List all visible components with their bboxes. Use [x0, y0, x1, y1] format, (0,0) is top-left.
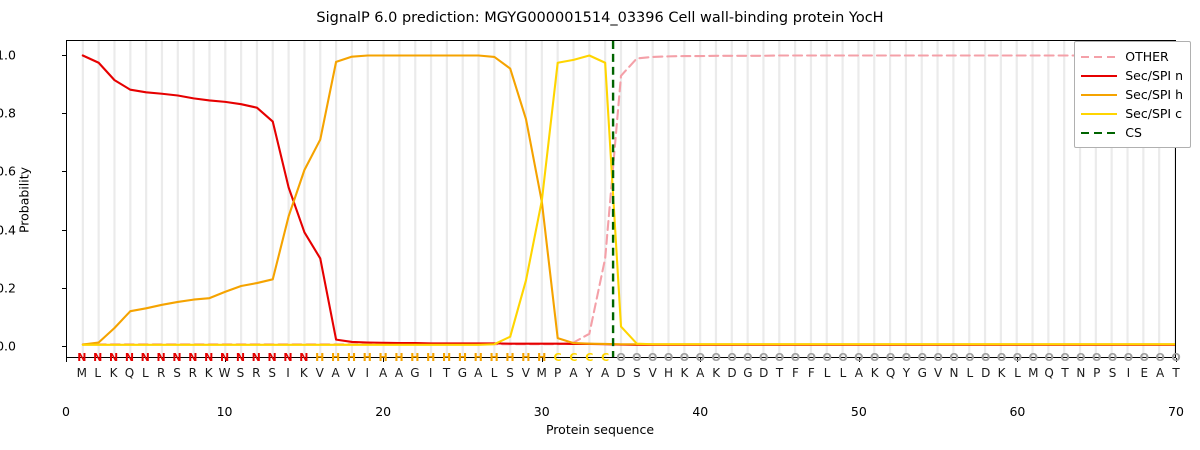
legend-swatch-icon: [1081, 70, 1117, 82]
y-axis-tick-mark: [62, 113, 66, 114]
legend-label: Sec/SPI h: [1125, 87, 1183, 102]
x-axis-tick-label: 60: [997, 404, 1037, 419]
plot-svg: [67, 41, 1175, 357]
y-axis-tick-label: 0.8: [0, 105, 16, 120]
series-line-sec-spi-n: [83, 55, 1175, 344]
x-axis-tick-label: 30: [522, 404, 562, 419]
y-axis-tick-mark: [62, 55, 66, 56]
x-axis-tick-label: 50: [839, 404, 879, 419]
legend-item[interactable]: Sec/SPI c: [1081, 104, 1183, 123]
x-axis-tick-label: 20: [363, 404, 403, 419]
legend-label: CS: [1125, 125, 1142, 140]
grid-lines: [83, 41, 1175, 357]
x-axis-tick-label: 40: [680, 404, 720, 419]
y-axis-tick-label: 0.2: [0, 280, 16, 295]
y-axis-tick-mark: [62, 288, 66, 289]
x-axis-tick-mark: [66, 358, 67, 362]
legend-item[interactable]: Sec/SPI h: [1081, 85, 1183, 104]
x-axis-tick-label: 0: [46, 404, 86, 419]
x-axis-label: Protein sequence: [0, 422, 1200, 437]
x-axis-tick-label: 70: [1156, 404, 1196, 419]
signalp-prediction-figure: SignalP 6.0 prediction: MGYG000001514_03…: [0, 0, 1200, 450]
legend-label: OTHER: [1125, 49, 1168, 64]
legend-item[interactable]: Sec/SPI n: [1081, 66, 1183, 85]
legend-swatch-icon: [1081, 127, 1117, 139]
legend: OTHERSec/SPI nSec/SPI hSec/SPI cCS: [1074, 41, 1191, 148]
legend-item[interactable]: CS: [1081, 123, 1183, 142]
y-axis-tick-mark: [62, 171, 66, 172]
series-line-sec-spi-c: [83, 55, 1175, 344]
y-axis-label-text: Probability: [17, 167, 32, 233]
legend-swatch-icon: [1081, 89, 1117, 101]
legend-swatch-icon: [1081, 51, 1117, 63]
residue-amino-acid-label: T: [1164, 366, 1188, 380]
chart-title: SignalP 6.0 prediction: MGYG000001514_03…: [0, 10, 1200, 26]
y-axis-tick-mark: [62, 230, 66, 231]
y-axis-tick-label: 0.6: [0, 164, 16, 179]
series-line-other: [83, 55, 1175, 344]
residue-state-label: O: [1164, 352, 1188, 364]
y-axis-tick-label: 1.0: [0, 47, 16, 62]
legend-item[interactable]: OTHER: [1081, 47, 1183, 66]
y-axis-label: Probability: [14, 110, 34, 290]
y-axis-tick-label: 0.4: [0, 222, 16, 237]
series-line-sec-spi-h: [83, 55, 1175, 344]
y-axis-tick-mark: [62, 346, 66, 347]
legend-label: Sec/SPI n: [1125, 68, 1183, 83]
legend-swatch-icon: [1081, 108, 1117, 120]
x-axis-tick-label: 10: [205, 404, 245, 419]
plot-area: [66, 40, 1176, 358]
legend-label: Sec/SPI c: [1125, 106, 1182, 121]
y-axis-tick-label: 0.0: [0, 339, 16, 354]
